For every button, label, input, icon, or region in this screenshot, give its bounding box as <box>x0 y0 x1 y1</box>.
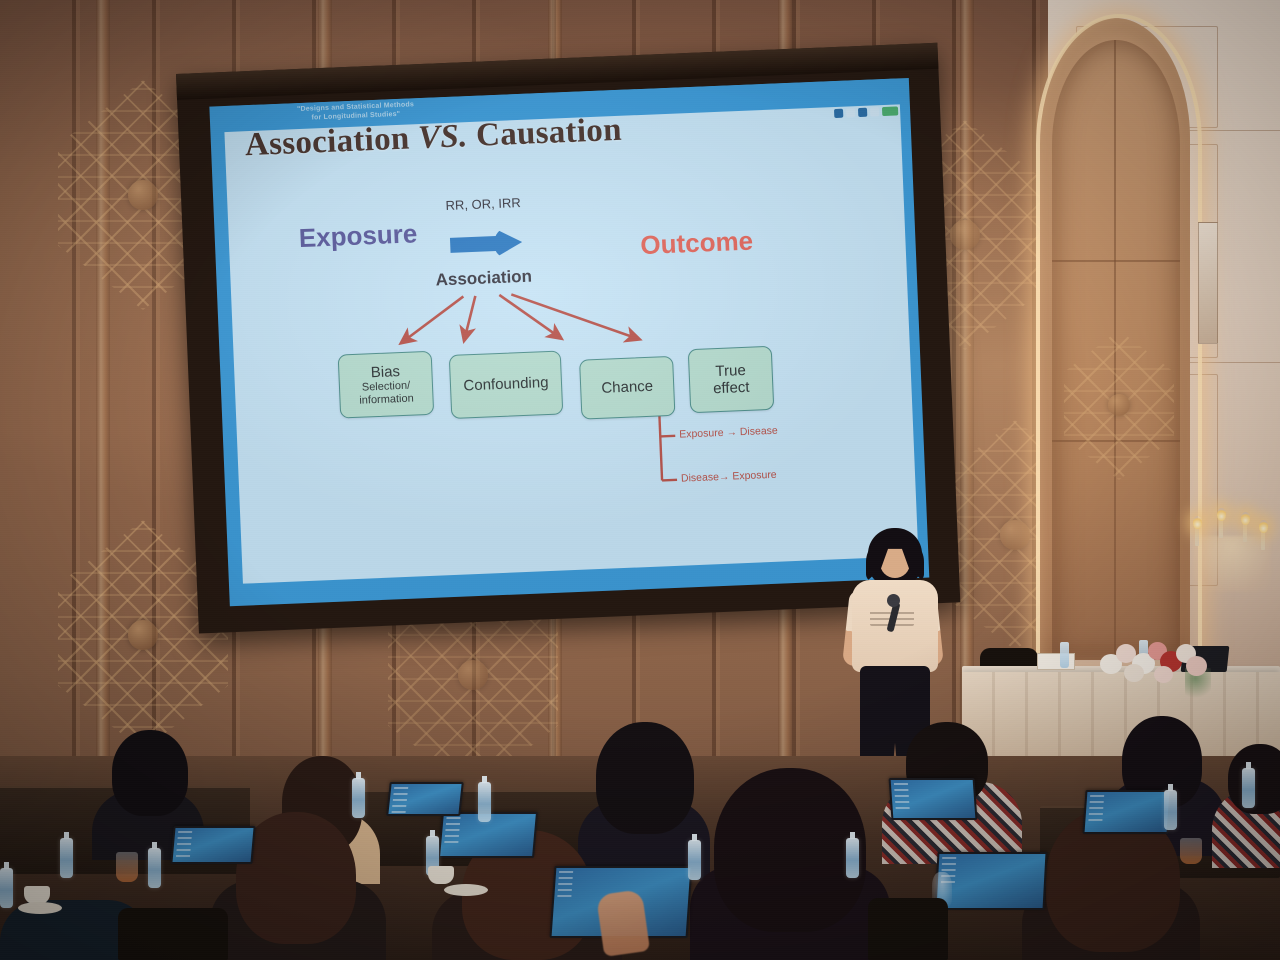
water-bottle <box>1164 790 1177 830</box>
name-card <box>1037 653 1075 670</box>
head-table-bottle <box>1060 642 1069 668</box>
box-confounding-title: Confounding <box>463 374 549 395</box>
water-bottle <box>846 838 859 878</box>
box-true-effect: True effect <box>688 346 775 413</box>
box-bias: Bias Selection/ information <box>338 351 435 419</box>
logo-mark-2 <box>846 108 855 117</box>
attendee-hair <box>596 722 694 834</box>
logo-mark-5 <box>882 106 898 116</box>
water-bottle <box>352 778 365 818</box>
iced-drink-glass <box>116 852 138 882</box>
box-true-effect-l2: effect <box>713 379 750 398</box>
logo-mark-4 <box>870 107 879 116</box>
iced-drink-glass <box>1180 838 1202 864</box>
exposure-label: Exposure <box>298 218 418 254</box>
attendee-hair <box>112 730 188 816</box>
chair-back <box>118 908 228 960</box>
box-chance: Chance <box>579 356 675 420</box>
floral-arrangement <box>1098 640 1210 684</box>
laptop[interactable] <box>1082 790 1171 834</box>
measures-label: RR, OR, IRR <box>445 195 521 213</box>
water-bottle <box>0 868 13 908</box>
attendee-hair <box>714 768 866 932</box>
laptop[interactable] <box>386 782 464 816</box>
title-italic: VS. <box>417 118 468 156</box>
laptop[interactable] <box>889 778 978 820</box>
microphone-head <box>887 594 900 607</box>
association-label: Association <box>435 267 532 291</box>
water-bottle <box>60 838 73 878</box>
arch-light-trim <box>1036 14 1202 666</box>
outcome-label: Outcome <box>640 225 754 261</box>
association-arrow-icon <box>450 227 523 260</box>
projector-screen: "Designs and Statistical Methods for Lon… <box>176 43 960 634</box>
water-bottle <box>688 840 701 880</box>
coffee-cup <box>428 866 454 884</box>
wall-light-panel <box>1198 222 1218 344</box>
water-bottle <box>148 848 161 888</box>
plate <box>18 902 62 914</box>
slide-surface: "Designs and Statistical Methods for Lon… <box>209 78 929 606</box>
laptop[interactable] <box>170 826 255 864</box>
box-confounding: Confounding <box>449 350 564 419</box>
chandelier-sconce <box>1185 500 1280 610</box>
water-bottle <box>1242 768 1255 808</box>
slide-content-area <box>224 104 918 583</box>
water-bottle <box>478 782 491 822</box>
box-bias-sub2: information <box>359 392 414 407</box>
chair-back <box>868 898 948 960</box>
raised-hand <box>596 889 650 957</box>
title-tail: Causation <box>467 112 623 154</box>
title-main: Association <box>244 120 419 163</box>
box-true-effect-l1: True <box>715 362 746 380</box>
logo-mark-1 <box>834 109 843 118</box>
box-bias-title: Bias <box>370 363 400 381</box>
presentation-photo: "Designs and Statistical Methods for Lon… <box>0 0 1280 960</box>
plate <box>444 884 488 896</box>
box-chance-title: Chance <box>601 378 653 397</box>
logo-mark-3 <box>858 108 867 117</box>
